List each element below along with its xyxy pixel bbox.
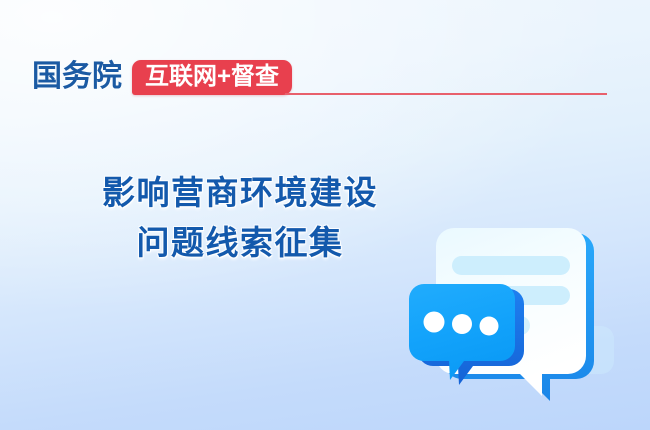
header-divider-rule xyxy=(285,93,607,95)
header-lockup: 国务院 互联网+督查 xyxy=(32,54,292,100)
page-title-line-2: 问题线索征集 xyxy=(60,218,420,268)
program-badge: 互联网+督查 xyxy=(132,60,292,95)
organization-name: 国务院 xyxy=(32,62,122,92)
page-title: 影响营商环境建设 问题线索征集 xyxy=(60,168,420,268)
program-badge-label: 互联网+督查 xyxy=(145,65,279,89)
speech-bubbles-illustration xyxy=(392,206,632,401)
banner-root: 国务院 互联网+督查 影响营商环境建设 问题线索征集 xyxy=(0,0,650,430)
page-title-line-1: 影响营商环境建设 xyxy=(60,168,420,218)
